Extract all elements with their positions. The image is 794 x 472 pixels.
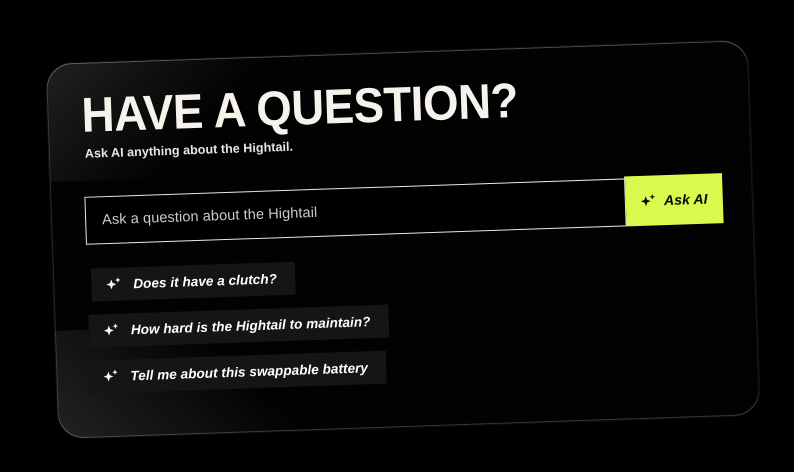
suggestion-chip-list: Does it have a clutch? How hard is the H… <box>87 247 729 394</box>
ask-ai-search-row: Ask AI <box>84 175 723 245</box>
card-surface: HAVE A QUESTION? Ask AI anything about t… <box>46 40 760 439</box>
card-content: HAVE A QUESTION? Ask AI anything about t… <box>46 40 760 439</box>
sparkle-icon <box>102 369 120 385</box>
screen-root: HAVE A QUESTION? Ask AI anything about t… <box>0 0 794 472</box>
suggestion-chip-3[interactable]: Tell me about this swappable battery <box>88 351 387 394</box>
sparkle-icon <box>640 193 658 209</box>
suggestion-chip-label: Tell me about this swappable battery <box>130 360 368 383</box>
ask-ai-button-label: Ask AI <box>664 192 708 207</box>
search-field[interactable] <box>84 178 626 244</box>
sparkle-icon <box>105 277 123 293</box>
suggestion-chip-label: Does it have a clutch? <box>133 271 277 291</box>
ask-ai-button[interactable]: Ask AI <box>624 173 724 226</box>
suggestion-chip-1[interactable]: Does it have a clutch? <box>91 262 296 302</box>
ask-ai-card: HAVE A QUESTION? Ask AI anything about t… <box>46 40 760 439</box>
suggestion-chip-label: How hard is the Hightail to maintain? <box>131 314 371 337</box>
suggestion-chip-2[interactable]: How hard is the Hightail to maintain? <box>88 305 389 348</box>
sparkle-icon <box>103 323 121 339</box>
search-input[interactable] <box>100 194 611 229</box>
